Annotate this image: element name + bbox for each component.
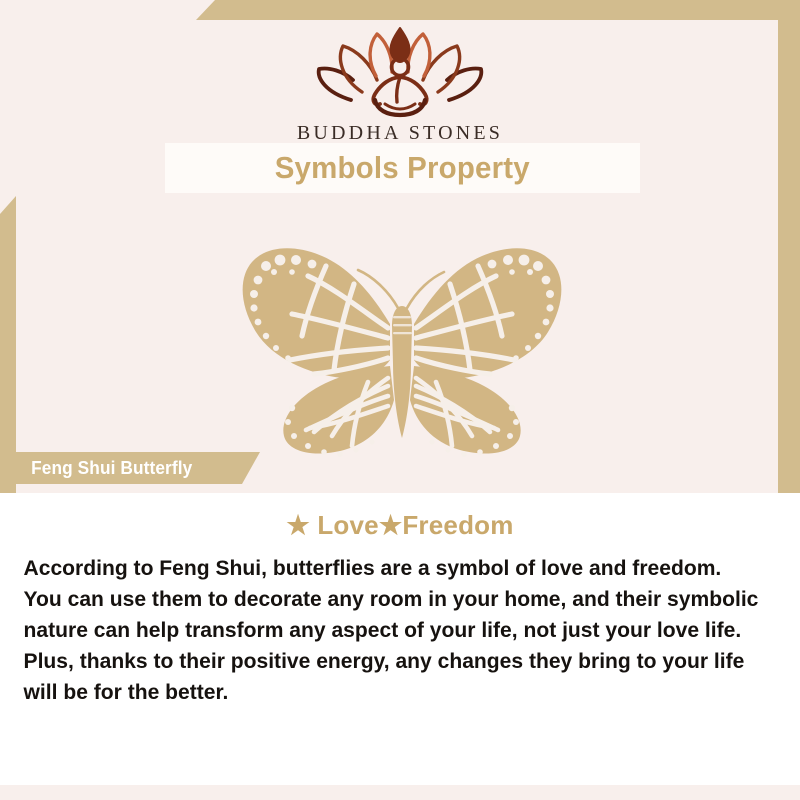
monarch-butterfly-icon (222, 232, 582, 462)
butterfly-illustration (222, 232, 582, 462)
page-title: Symbols Property (275, 150, 530, 186)
feng-shui-butterfly-ribbon: Feng Shui Butterfly (16, 452, 260, 484)
ribbon-label: Feng Shui Butterfly (20, 458, 193, 479)
brand-wordmark: BUDDHA STONES (0, 122, 800, 145)
love-freedom-subheading: ★ Love★Freedom (0, 510, 800, 541)
brand-logo: BUDDHA STONES (0, 22, 800, 145)
product-info-card: BUDDHA STONES Symbols Property (0, 0, 800, 800)
description-paragraph: According to Feng Shui, butterflies are … (0, 553, 784, 708)
description-section: ★ Love★Freedom According to Feng Shui, b… (0, 493, 800, 785)
section-title-bar: Symbols Property (165, 143, 640, 193)
bottom-pink-strip (0, 785, 800, 800)
lotus-meditation-figure-icon (305, 22, 495, 118)
